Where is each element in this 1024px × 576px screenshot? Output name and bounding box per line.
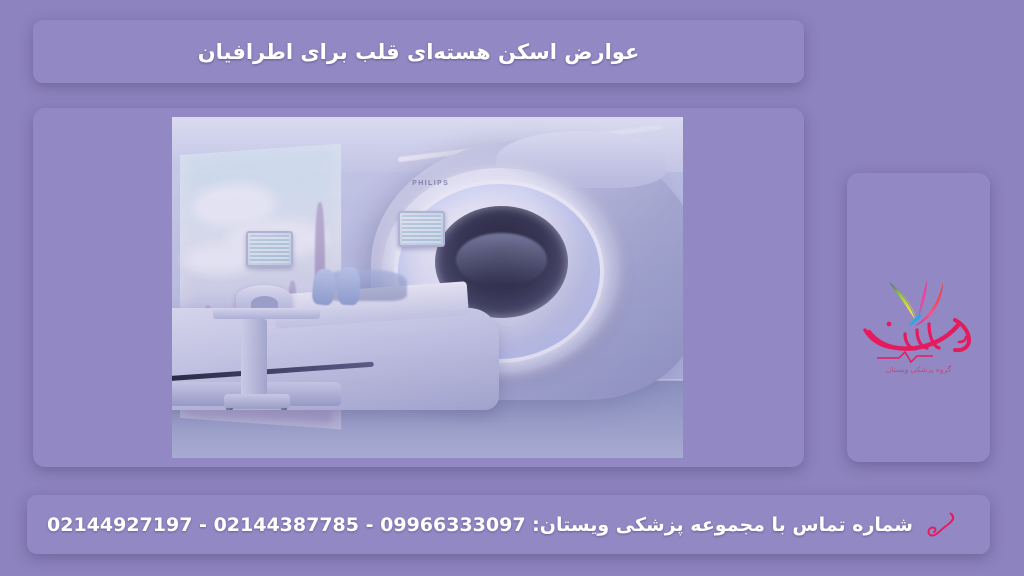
- mri-room-photo: PHILIPS: [172, 117, 683, 458]
- patient-leg: [337, 267, 361, 305]
- logo-feather-green-yellow: [889, 282, 915, 320]
- bore-inner-shadow: [456, 233, 546, 287]
- cart-wheel: [226, 408, 233, 410]
- cart-column: [241, 319, 267, 399]
- gantry-display-left: [246, 231, 293, 267]
- page-title: عوارض اسکن هسته‌ای قلب برای اطرافیان: [198, 40, 640, 64]
- banner-root: عوارض اسکن هسته‌ای قلب برای اطرافیان: [0, 0, 1024, 576]
- cart-tabletop: [213, 308, 320, 318]
- logo-script-dot: [886, 321, 891, 326]
- main-photo-card: PHILIPS: [33, 108, 804, 467]
- logo-script-stroke: [959, 337, 966, 342]
- logo-feather-red: [915, 282, 943, 326]
- brand-logo: گروه پزشکی ویستان: [859, 258, 979, 378]
- cart-wheel: [281, 408, 288, 410]
- head-coil: [236, 285, 292, 311]
- vistan-logo-icon: [859, 258, 979, 378]
- logo-heartbeat-line: [877, 352, 933, 362]
- contact-line: شماره تماس با مجموعه پزشکی ویستان: 09966…: [47, 514, 913, 536]
- phone-handset-icon: [925, 508, 959, 542]
- equipment-cart: [213, 288, 320, 418]
- logo-card: گروه پزشکی ویستان: [847, 173, 990, 462]
- logo-subtitle: گروه پزشکی ویستان: [859, 365, 979, 374]
- title-card: عوارض اسکن هسته‌ای قلب برای اطرافیان: [33, 20, 804, 83]
- contact-banner: شماره تماس با مجموعه پزشکی ویستان: 09966…: [27, 495, 990, 554]
- cart-foot: [224, 394, 291, 410]
- device-brand-label: PHILIPS: [412, 180, 449, 187]
- gantry-display-right: [398, 211, 445, 247]
- logo-script-baseline: [869, 324, 959, 349]
- mri-scene: PHILIPS: [172, 117, 683, 458]
